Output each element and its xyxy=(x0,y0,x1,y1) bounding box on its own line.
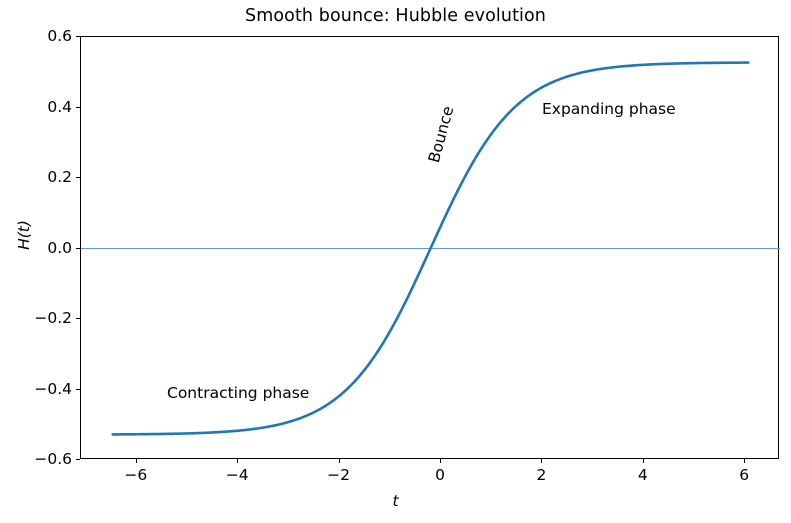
xtick-label-0: −6 xyxy=(124,466,147,484)
ytick-mark-6 xyxy=(76,459,80,460)
chart-title: Smooth bounce: Hubble evolution xyxy=(0,6,791,26)
plot-area: Contracting phase Expanding phase Bounce xyxy=(80,36,779,459)
annotation-contracting-phase: Contracting phase xyxy=(167,384,309,402)
ytick-label-1: 0.4 xyxy=(0,98,72,116)
xtick-label-4: 2 xyxy=(536,466,546,484)
ytick-label-3: 0.0 xyxy=(0,239,72,257)
ytick-label-2: 0.2 xyxy=(0,168,72,186)
xtick-label-1: −4 xyxy=(226,466,249,484)
xtick-label-6: 6 xyxy=(739,466,749,484)
xtick-label-5: 4 xyxy=(638,466,648,484)
ytick-label-0: 0.6 xyxy=(0,27,72,45)
xtick-label-2: −2 xyxy=(327,466,350,484)
figure-canvas: Smooth bounce: Hubble evolution 0.6 0.4 … xyxy=(0,0,791,523)
xtick-label-3: 0 xyxy=(435,466,445,484)
annotation-expanding-phase: Expanding phase xyxy=(542,100,676,118)
ytick-label-5: −0.4 xyxy=(0,380,72,398)
x-axis-label: t xyxy=(0,492,791,510)
y-axis-label: H(t) xyxy=(15,190,33,280)
ytick-label-6: −0.6 xyxy=(0,450,72,468)
ytick-label-4: −0.2 xyxy=(0,309,72,327)
